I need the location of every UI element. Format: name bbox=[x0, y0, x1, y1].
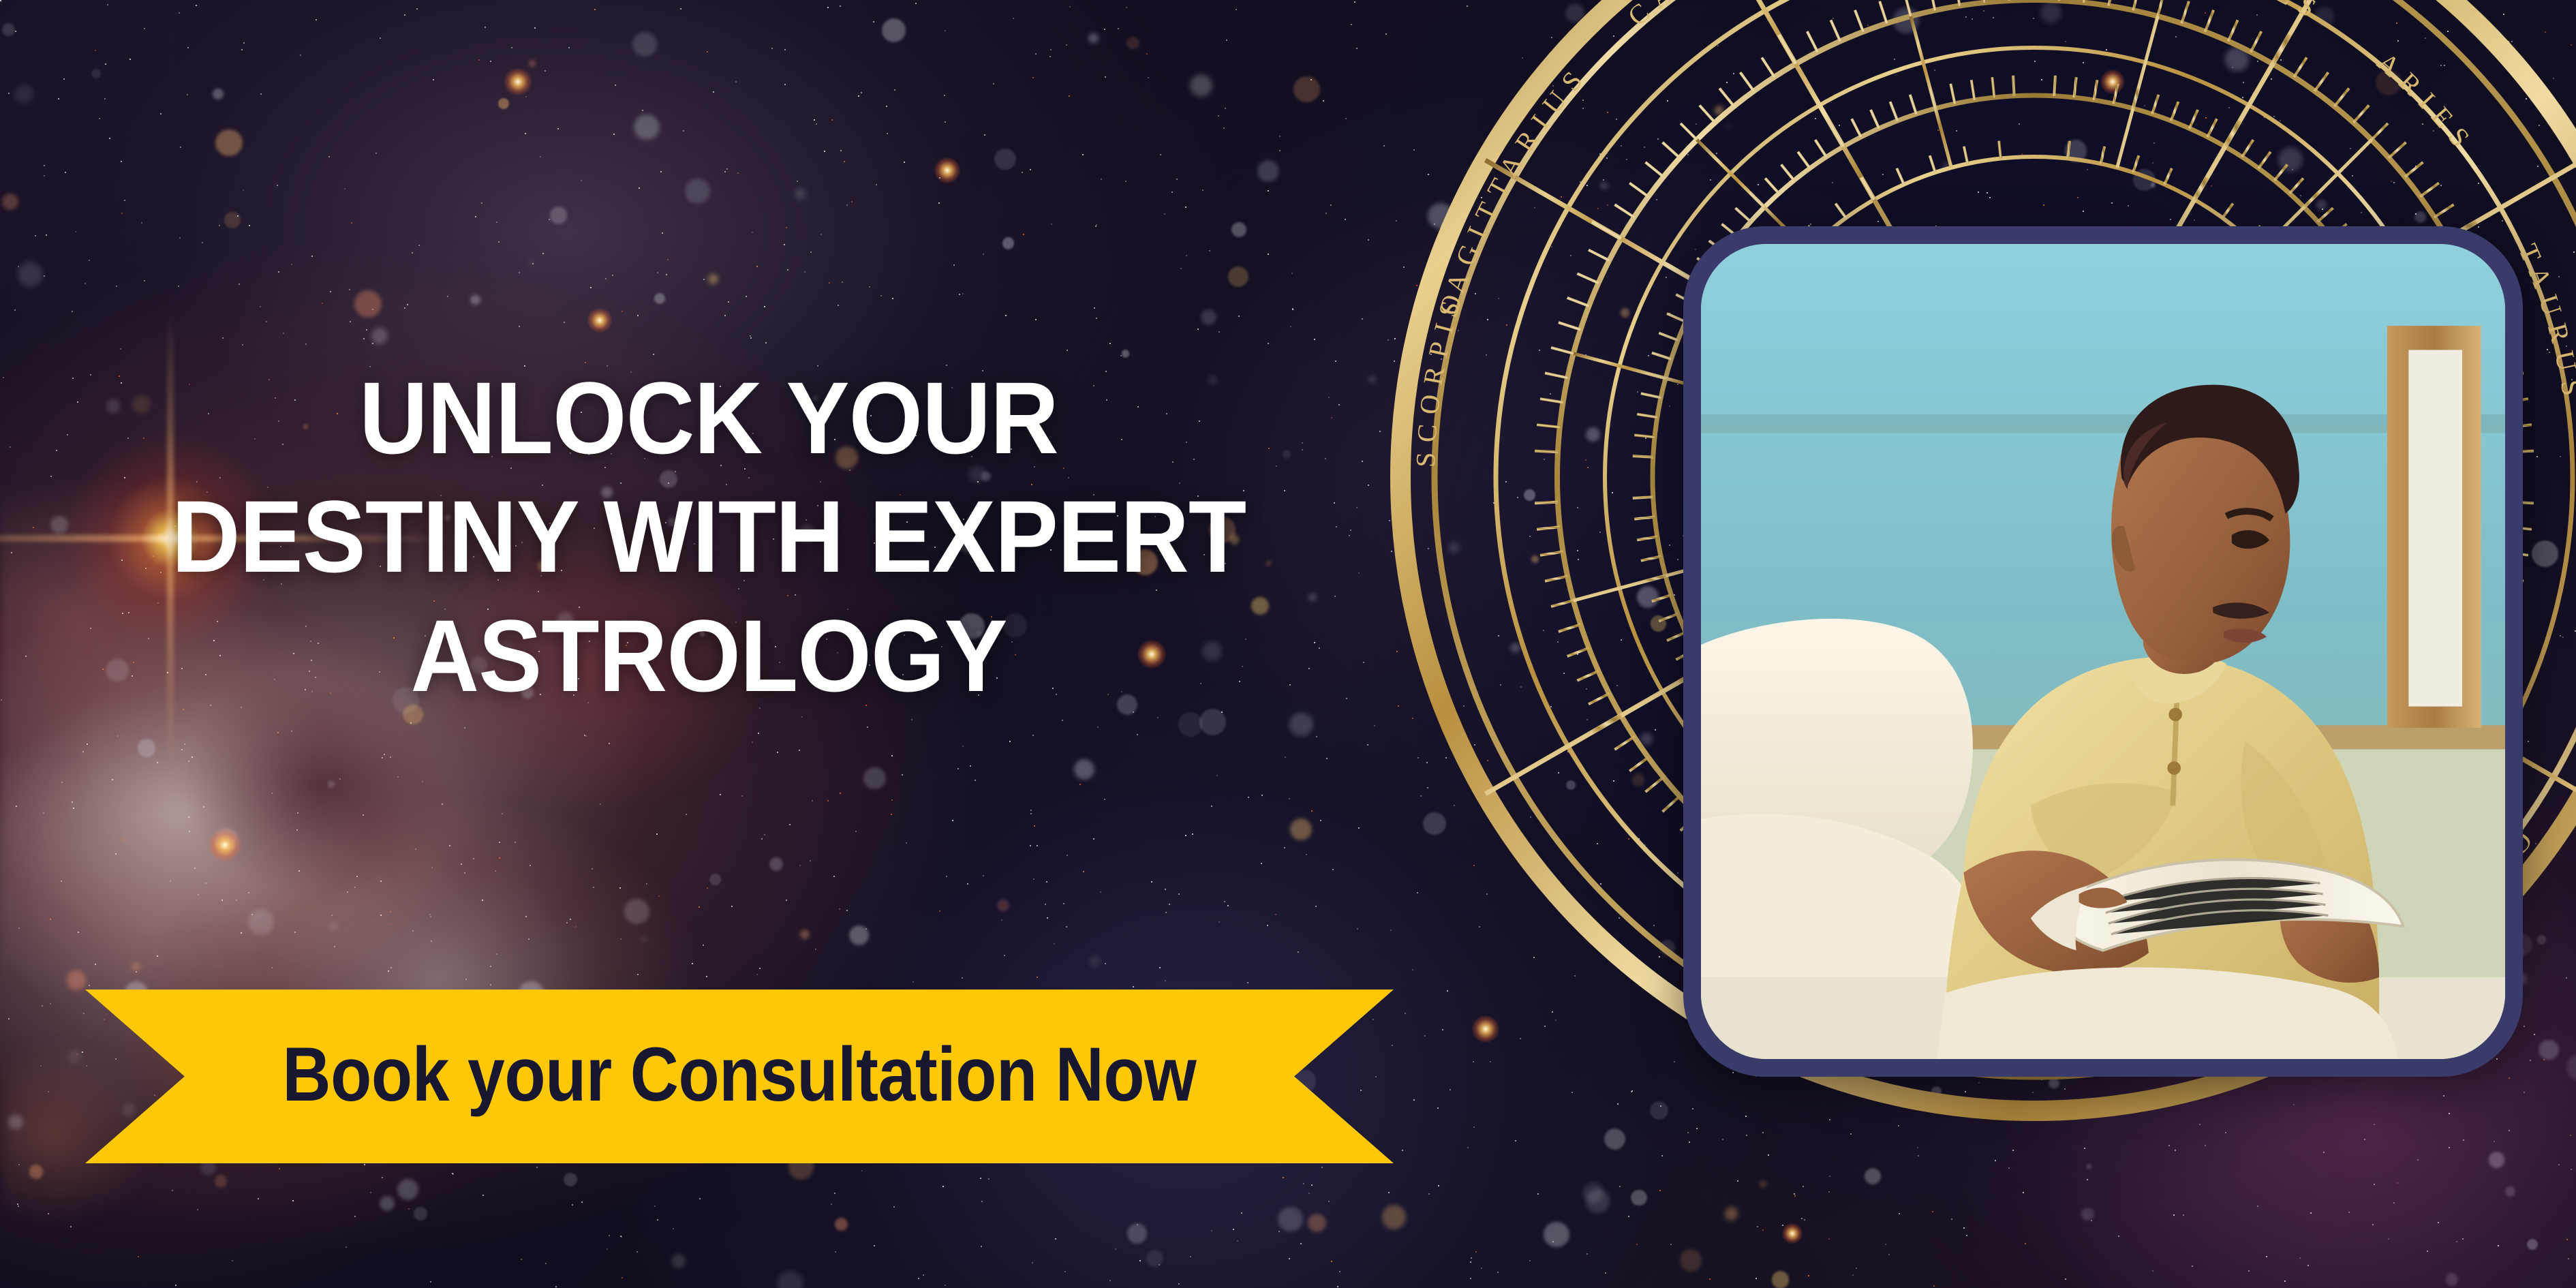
astrology-promo-banner: SAGITTARIUS CAPRICORN AQUARIUS PISCES AR… bbox=[0, 0, 2576, 1288]
astrologer-photo bbox=[1701, 244, 2505, 1059]
page-title: UNLOCK YOUR DESTINY WITH EXPERT ASTROLOG… bbox=[88, 358, 1330, 716]
astrologer-photo-frame bbox=[1683, 226, 2523, 1077]
book-consultation-button[interactable]: Book your Consultation Now bbox=[85, 990, 1394, 1163]
cta-ribbon-wrapper: Book your Consultation Now bbox=[85, 990, 1394, 1163]
book-consultation-label: Book your Consultation Now bbox=[283, 1037, 1197, 1117]
